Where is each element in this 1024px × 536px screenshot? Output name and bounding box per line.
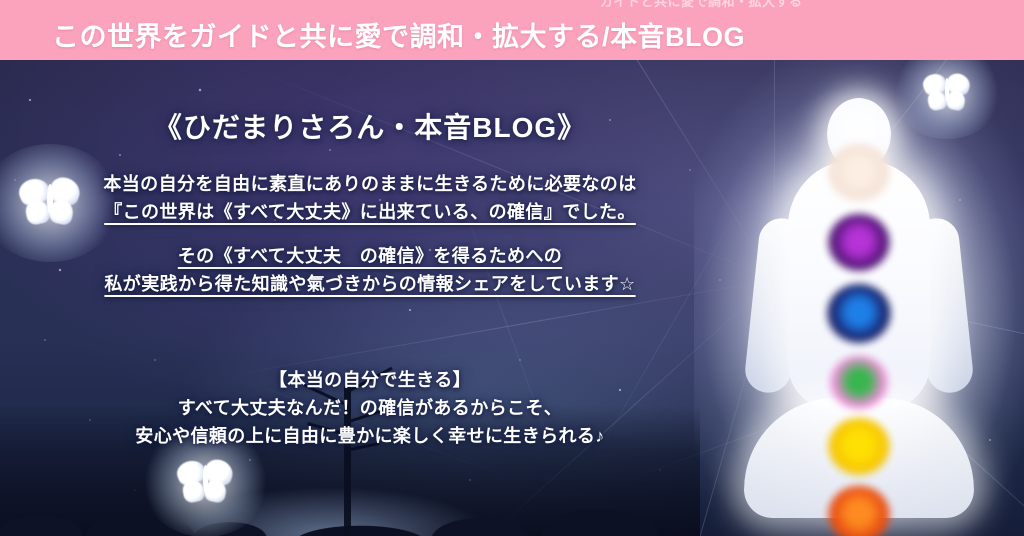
sacral-chakra (828, 486, 890, 536)
third-eye-chakra (828, 214, 890, 271)
hero-copy: 《ひだまりさろん・本音BLOG》 本当の自分を自由に素直にありのままに生きるため… (0, 60, 740, 536)
top-cutoff-strip: ガイドと共に愛で調和・拡大する (0, 0, 1024, 9)
figure-body (716, 98, 1002, 536)
figure-arm-right (911, 216, 975, 395)
figure-legs (744, 398, 974, 518)
hero-text-line: 私が実践から得た知識や氣づきからの情報シェアをしています☆ (0, 270, 740, 298)
hero-text-line: 【本当の自分で生きる】 (0, 366, 740, 394)
site-title: この世界をガイドと共に愛で調和・拡大する/本音BLOG (52, 15, 745, 54)
hero-banner: 《ひだまりさろん・本音BLOG》 本当の自分を自由に素直にありのままに生きるため… (0, 60, 1024, 536)
hero-paragraph-b: その《すべて大丈夫 の確信》を得るためへの私が実践から得た知識や氣づきからの情報… (0, 242, 740, 298)
throat-chakra (827, 284, 891, 343)
figure-arm-left (743, 216, 807, 395)
hero-heading: 《ひだまりさろん・本音BLOG》 (0, 106, 740, 146)
hero-text-line: その《すべて大丈夫 の確信》を得るためへの (0, 242, 740, 270)
solar-plexus-chakra (828, 418, 890, 475)
hero-text-line: 安心や信頼の上に自由に豊かに楽しく幸せに生きられる♪ (0, 422, 740, 450)
site-header: この世界をガイドと共に愛で調和・拡大する/本音BLOG (0, 9, 1024, 60)
hero-paragraph-c: 【本当の自分で生きる】すべて大丈夫なんだ！の確信があるからこそ、安心や信頼の上に… (0, 366, 740, 450)
meditating-figure (694, 60, 1024, 536)
heart-chakra (830, 356, 888, 409)
aura-glow (694, 60, 1024, 536)
hero-paragraph-a: 本当の自分を自由に素直にありのままに生きるために必要なのは『この世界は《すべて大… (0, 170, 740, 226)
figure-torso (788, 160, 930, 410)
top-cutoff-text: ガイドと共に愛で調和・拡大する (600, 0, 803, 9)
hero-text-line: 本当の自分を自由に素直にありのままに生きるために必要なのは (0, 170, 740, 198)
butterfly-top-right-icon (922, 72, 972, 114)
hero-text-line: 『この世界は《すべて大丈夫》に出来ている、の確信』でした。 (0, 198, 740, 226)
crown-chakra (828, 144, 890, 201)
figure-head (827, 98, 891, 170)
hero-text-line: すべて大丈夫なんだ！の確信があるからこそ、 (0, 394, 740, 422)
page-root: ガイドと共に愛で調和・拡大する この世界をガイドと共に愛で調和・拡大する/本音B… (0, 0, 1024, 536)
